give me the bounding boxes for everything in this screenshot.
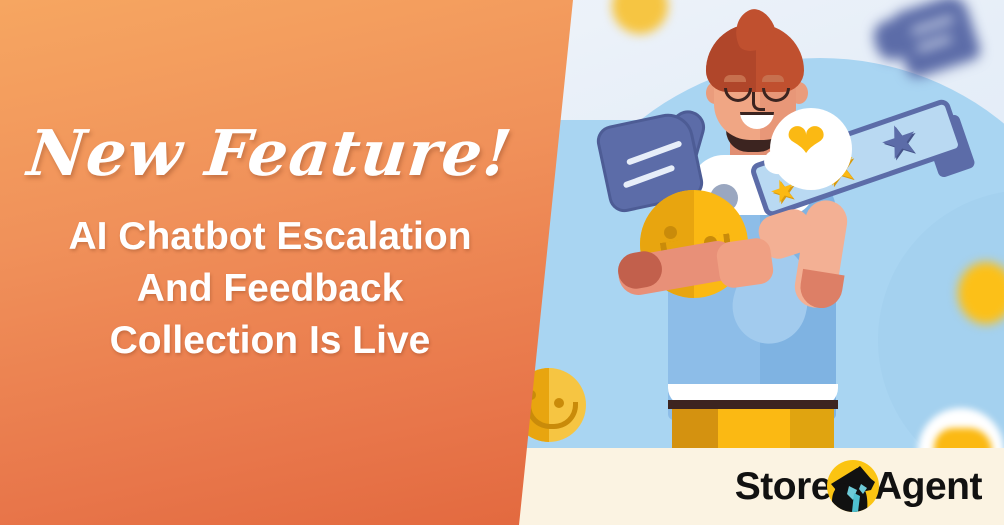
logo-word-agent: Agent xyxy=(874,467,982,506)
character-eyebrow-left xyxy=(724,75,746,82)
star-icon-empty-3: ★ xyxy=(874,115,926,169)
thumbs-up-icon-blur-topright xyxy=(898,2,974,70)
headline-line-2: And Feedback xyxy=(68,263,471,315)
smiley-face-icon-blur-top xyxy=(612,0,668,34)
heart-icon: ❤ xyxy=(786,118,826,166)
character-eyebrow-right xyxy=(762,75,784,82)
detective-agent-icon xyxy=(827,460,879,512)
headline-block: New Feature! AI Chatbot Escalation And F… xyxy=(0,0,540,525)
headline-line-1: AI Chatbot Escalation xyxy=(68,211,471,263)
logo-word-store: Store xyxy=(735,467,832,506)
promo-banner: ★ ★ ★ ❤ New Feature! AI Chatbot Escalati… xyxy=(0,0,1004,525)
character-hand-left xyxy=(715,236,775,289)
smiley-eye-left xyxy=(664,226,677,239)
character-belt xyxy=(668,400,838,409)
page-title: AI Chatbot Escalation And Feedback Colle… xyxy=(68,211,471,368)
brand-logo[interactable]: Store Ag xyxy=(735,460,982,512)
headline-line-3: Collection Is Live xyxy=(68,315,471,367)
character-nose xyxy=(752,92,765,111)
kicker-text: New Feature! xyxy=(25,122,515,185)
